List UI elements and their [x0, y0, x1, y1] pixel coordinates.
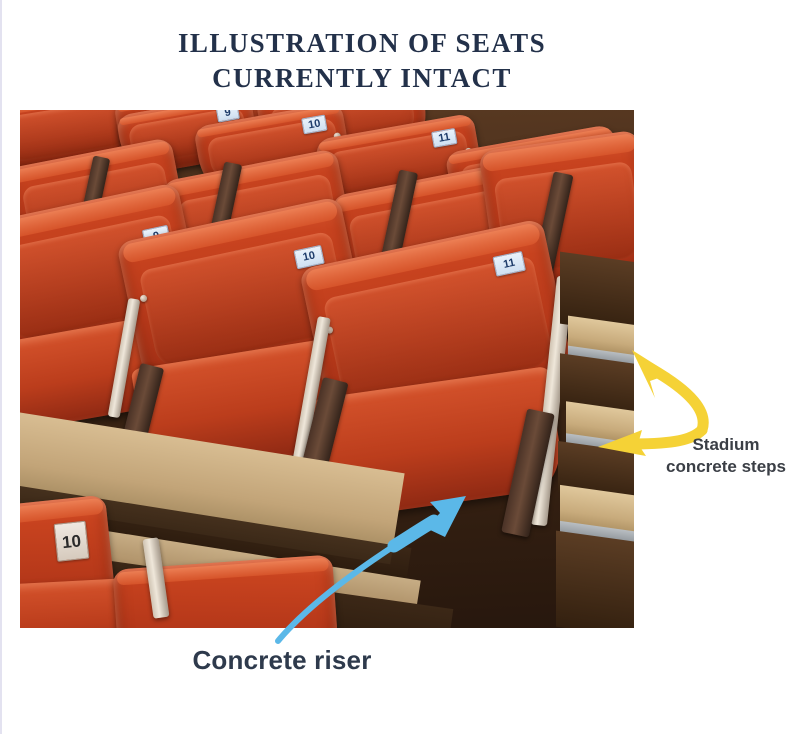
page-title-line-1: ILLUSTRATION OF SEATS [2, 26, 722, 61]
page-title-line-2: CURRENTLY INTACT [2, 61, 722, 96]
stadium-steps-label: Stadium concrete steps [656, 434, 796, 479]
stadium-steps-label-line-2: concrete steps [656, 456, 796, 478]
stadium-steps-label-line-1: Stadium [656, 434, 796, 456]
seat-number-placard: 10 [54, 521, 90, 562]
step-riser-bottom [556, 531, 634, 628]
stadium-seats-photo: 9 10 11 12 [20, 110, 634, 628]
page-title: ILLUSTRATION OF SEATS CURRENTLY INTACT [2, 26, 722, 95]
concrete-riser-label: Concrete riser [132, 645, 432, 676]
